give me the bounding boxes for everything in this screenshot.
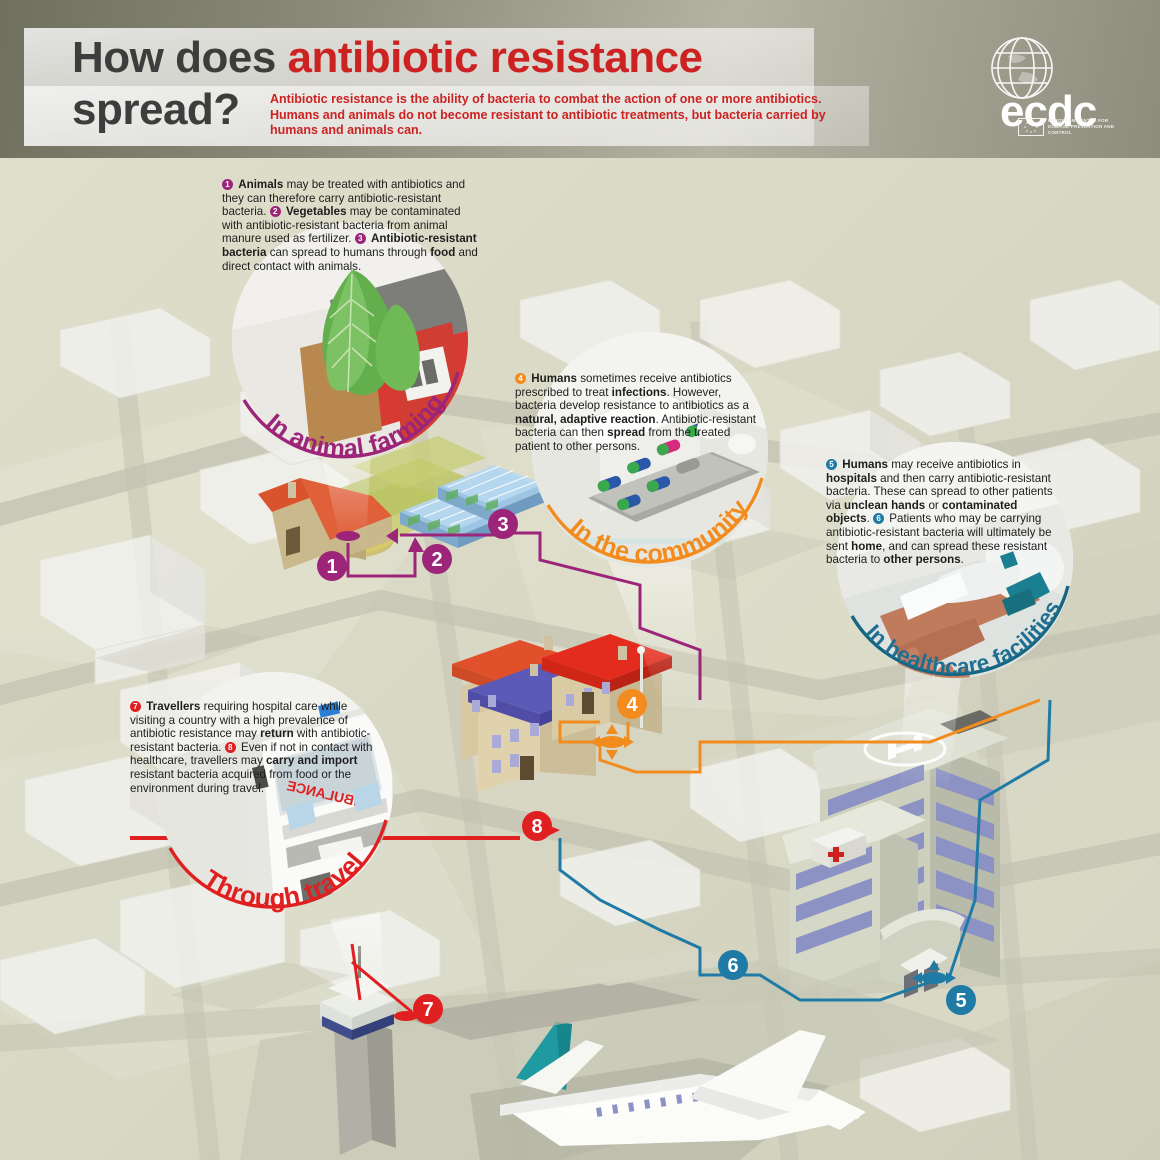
inline-marker-1: 1 — [222, 179, 233, 190]
ecdc-logo-subtitle-text: EUROPEAN CENTRE FOR DISEASE PREVENTION A… — [1048, 118, 1114, 135]
emphasis: spread — [607, 426, 645, 439]
emphasis: other persons — [883, 553, 960, 566]
inline-marker-8: 8 — [225, 742, 236, 753]
emphasis: return — [260, 727, 294, 740]
title-accent: antibiotic resistance — [288, 33, 703, 82]
inline-marker-5: 5 — [826, 459, 837, 470]
text-block-travel: 7 Travellers requiring hospital care whi… — [130, 700, 380, 795]
inline-marker-6: 6 — [873, 513, 884, 524]
page-subtitle: Antibiotic resistance is the ability of … — [270, 92, 870, 139]
emphasis: hospitals — [826, 472, 877, 485]
emphasis: home — [851, 540, 882, 553]
ecdc-logo-subtitle: EUROPEAN CENTRE FOR DISEASE PREVENTION A… — [1018, 118, 1118, 136]
inline-marker-2: 2 — [270, 206, 281, 217]
emphasis: Humans — [842, 458, 888, 471]
emphasis: Animals — [238, 178, 283, 191]
isometric-city-map — [0, 0, 1160, 1160]
infographic-canvas: In animal farming — [0, 0, 1160, 1160]
emphasis: unclean hands — [844, 499, 925, 512]
emphasis: infections — [612, 386, 667, 399]
emphasis: carry and import — [266, 754, 358, 767]
eu-flag-icon — [1018, 118, 1044, 136]
text-block-community: 4 Humans sometimes receive antibiotics p… — [515, 372, 765, 454]
emphasis: Vegetables — [286, 205, 347, 218]
emphasis: natural, adaptive reaction — [515, 413, 655, 426]
text-block-animal-farming: 1 Animals may be treated with antibiotic… — [222, 178, 482, 273]
traveller-node — [394, 1011, 418, 1021]
inline-marker-3: 3 — [355, 233, 366, 244]
inline-marker-7: 7 — [130, 701, 141, 712]
hospital-complex — [782, 708, 1008, 998]
header-band: How does antibiotic resistance spread? A… — [0, 0, 1160, 158]
animal-node — [336, 531, 360, 541]
title-end: spread? — [72, 85, 240, 134]
emphasis: Travellers — [146, 700, 200, 713]
emphasis: Humans — [531, 372, 577, 385]
emphasis: food — [430, 246, 455, 259]
text-block-healthcare: 5 Humans may receive antibiotics in hosp… — [826, 458, 1058, 567]
inline-marker-4: 4 — [515, 373, 526, 384]
title-plain: How does — [72, 33, 288, 82]
